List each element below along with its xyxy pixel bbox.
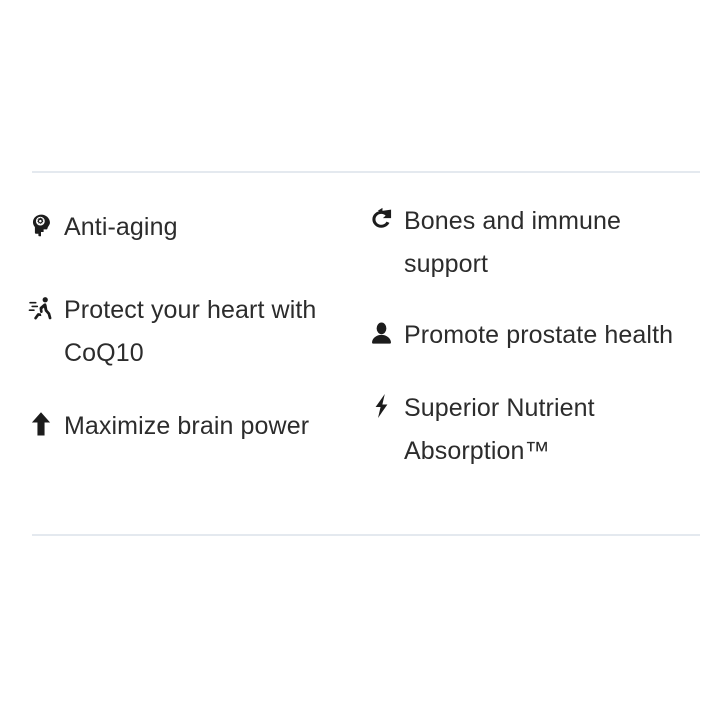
rotate-left-icon — [366, 204, 396, 234]
benefit-label: Bones and immune support — [404, 200, 694, 286]
benefit-item-anti-aging: Anti-aging — [26, 206, 366, 249]
benefit-label: Anti-aging — [64, 206, 178, 249]
user-icon — [366, 318, 396, 348]
lightning-bolt-icon — [366, 391, 396, 421]
running-person-icon — [26, 293, 56, 323]
head-gear-icon — [26, 210, 56, 240]
benefit-item-brain-power: Maximize brain power — [26, 405, 366, 448]
arrow-up-icon — [26, 409, 56, 439]
benefits-column-left: Anti-aging Protect your heart with CoQ10 — [26, 200, 366, 448]
benefit-item-heart-coq10: Protect your heart with CoQ10 — [26, 289, 366, 375]
benefit-label: Superior Nutrient Absorption™ — [404, 387, 694, 473]
benefit-item-bones-immune: Bones and immune support — [366, 200, 700, 286]
product-benefits-panel: Anti-aging Protect your heart with CoQ10 — [0, 0, 720, 720]
benefits-column-right: Bones and immune support Promote prostat… — [366, 200, 700, 473]
divider-top — [32, 171, 700, 173]
benefit-item-nutrient-absorption: Superior Nutrient Absorption™ — [366, 387, 700, 473]
benefit-label: Protect your heart with CoQ10 — [64, 289, 336, 375]
benefits-list: Anti-aging Protect your heart with CoQ10 — [26, 200, 700, 473]
benefit-item-prostate-health: Promote prostate health — [366, 314, 700, 357]
benefit-label: Promote prostate health — [404, 314, 673, 357]
benefit-label: Maximize brain power — [64, 405, 309, 448]
divider-bottom — [32, 534, 700, 536]
